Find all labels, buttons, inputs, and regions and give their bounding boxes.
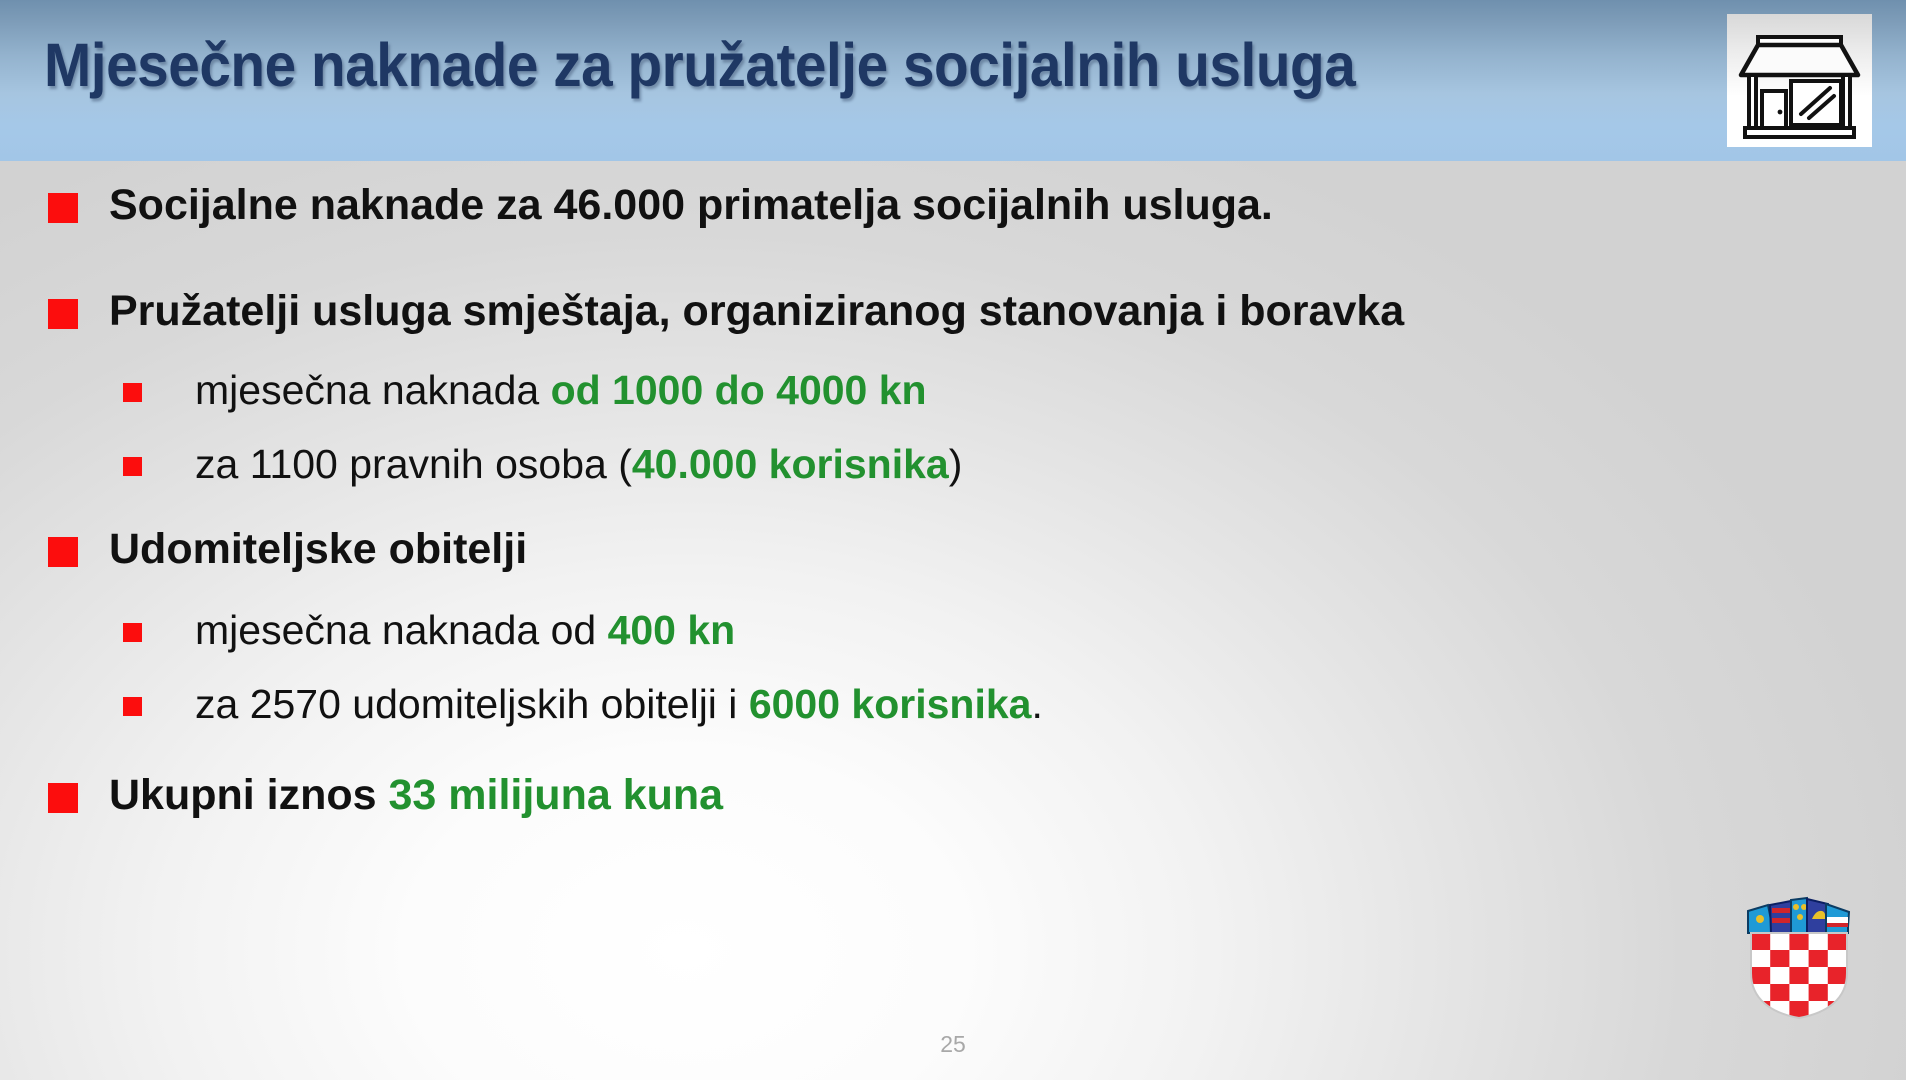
slide-title: Mjesečne naknade za pružatelje socijalni… — [44, 28, 1569, 102]
bullet-item: Ukupni iznos 33 milijuna kuna — [48, 765, 723, 825]
highlight-amount: 400 kn — [608, 607, 736, 653]
highlight-amount: od 1000 do 4000 kn — [551, 367, 927, 413]
bullet-text: Udomiteljske obitelji — [109, 519, 527, 579]
sub-bullet-item: mjesečna naknada od 1000 do 4000 kn — [123, 361, 927, 419]
bullet-item: Socijalne naknade za 46.000 primatelja s… — [48, 175, 1273, 235]
croatian-coat-of-arms-icon — [1741, 893, 1857, 1020]
bullet-marker-square — [48, 299, 78, 329]
slide-body: Socijalne naknade za 46.000 primatelja s… — [0, 161, 1906, 1080]
sub-bullet-item: mjesečna naknada od 400 kn — [123, 601, 735, 659]
sub-bullet-text: mjesečna naknada od 1000 do 4000 kn — [195, 361, 927, 419]
sub-bullet-marker-square — [123, 383, 142, 402]
highlight-amount: 6000 korisnika — [749, 681, 1032, 727]
sub-bullet-marker-square — [123, 623, 142, 642]
bullet-text: Pružatelji usluga smještaja, organiziran… — [109, 281, 1404, 341]
slide-header-band: Mjesečne naknade za pružatelje socijalni… — [0, 0, 1906, 161]
shop-storefront-icon — [1727, 14, 1872, 147]
sub-bullet-marker-square — [123, 697, 142, 716]
sub-bullet-text: za 2570 udomiteljskih obitelji i 6000 ko… — [195, 675, 1043, 733]
sub-bullet-text: za 1100 pravnih osoba (40.000 korisnika) — [195, 435, 962, 493]
sub-bullet-marker-square — [123, 457, 142, 476]
highlight-amount: 40.000 korisnika — [632, 441, 949, 487]
sub-bullet-item: za 1100 pravnih osoba (40.000 korisnika) — [123, 435, 962, 493]
presentation-slide: Mjesečne naknade za pružatelje socijalni… — [0, 0, 1906, 1080]
bullet-marker-square — [48, 193, 78, 223]
bullet-marker-square — [48, 537, 78, 567]
bullet-item: Pružatelji usluga smještaja, organiziran… — [48, 281, 1404, 341]
bullet-item: Udomiteljske obitelji — [48, 519, 527, 579]
bullet-text: Socijalne naknade za 46.000 primatelja s… — [109, 175, 1273, 235]
bullet-text: Ukupni iznos 33 milijuna kuna — [109, 765, 723, 825]
shop-icon-container — [1727, 14, 1872, 147]
bullet-marker-square — [48, 783, 78, 813]
highlight-amount: 33 milijuna kuna — [389, 771, 724, 819]
sub-bullet-item: za 2570 udomiteljskih obitelji i 6000 ko… — [123, 675, 1043, 733]
page-number: 25 — [0, 1031, 1906, 1058]
sub-bullet-text: mjesečna naknada od 400 kn — [195, 601, 735, 659]
